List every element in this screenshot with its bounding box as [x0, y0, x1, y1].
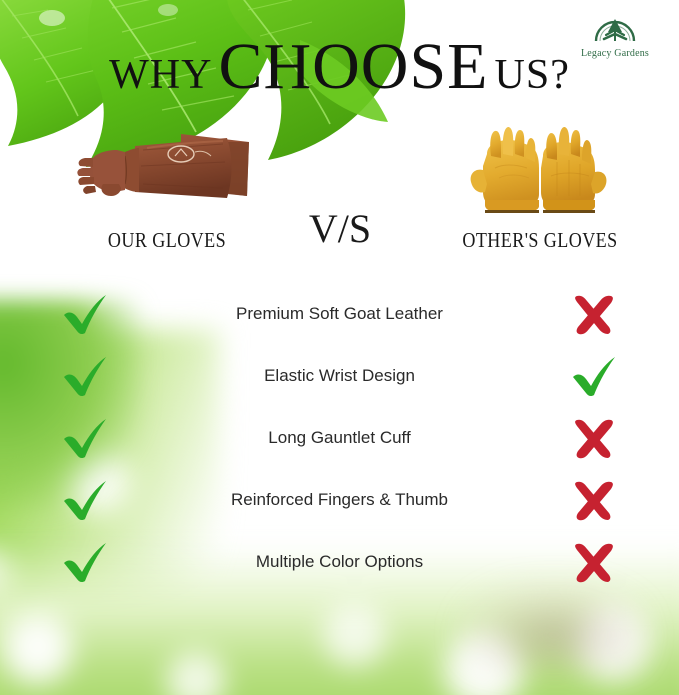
other-gloves-mark-cell — [509, 292, 679, 336]
other-gloves-mark-cell — [509, 540, 679, 584]
other-gloves-label: OTHER'S GLOVES — [450, 228, 631, 253]
red-cross-icon — [571, 478, 617, 522]
table-row: Reinforced Fingers & Thumb — [0, 469, 679, 531]
background-bottom-right-blur — [459, 581, 649, 671]
green-check-icon — [59, 291, 111, 337]
brown-gauntlet-leather-gloves-image — [62, 122, 272, 217]
table-row: Elastic Wrist Design — [0, 345, 679, 407]
title-word-choose: CHOOSE — [218, 30, 488, 103]
title-word-us: US? — [495, 52, 570, 98]
yellow-short-work-gloves-image — [440, 122, 640, 217]
feature-comparison-table: Premium Soft Goat LeatherElastic Wrist D… — [0, 283, 679, 593]
feature-label: Multiple Color Options — [170, 551, 509, 573]
feature-label: Premium Soft Goat Leather — [170, 303, 509, 325]
our-gloves-mark-cell — [0, 353, 170, 399]
our-gloves-label: OUR GLOVES — [77, 228, 258, 253]
green-check-icon — [568, 353, 620, 399]
title-word-why: WHY — [109, 52, 212, 98]
red-cross-icon — [571, 540, 617, 584]
green-check-icon — [59, 477, 111, 523]
other-gloves-mark-cell — [509, 353, 679, 399]
other-gloves-mark-cell — [509, 478, 679, 522]
our-gloves-mark-cell — [0, 477, 170, 523]
our-gloves-mark-cell — [0, 291, 170, 337]
feature-label: Elastic Wrist Design — [170, 365, 509, 387]
feature-label: Reinforced Fingers & Thumb — [170, 489, 509, 511]
feature-label: Long Gauntlet Cuff — [170, 427, 509, 449]
green-check-icon — [59, 353, 111, 399]
our-gloves-mark-cell — [0, 539, 170, 585]
table-row: Multiple Color Options — [0, 531, 679, 593]
why-choose-us-infographic: Legacy Gardens WHYCHOOSEUS? — [0, 0, 679, 695]
red-cross-icon — [571, 292, 617, 336]
other-gloves-mark-cell — [509, 416, 679, 460]
our-gloves-product — [62, 122, 272, 217]
table-row: Premium Soft Goat Leather — [0, 283, 679, 345]
red-cross-icon — [571, 416, 617, 460]
versus-label: V/S — [280, 205, 400, 252]
other-gloves-product — [440, 122, 640, 217]
page-title: WHYCHOOSEUS? — [0, 34, 679, 100]
table-row: Long Gauntlet Cuff — [0, 407, 679, 469]
green-check-icon — [59, 539, 111, 585]
our-gloves-mark-cell — [0, 415, 170, 461]
green-check-icon — [59, 415, 111, 461]
